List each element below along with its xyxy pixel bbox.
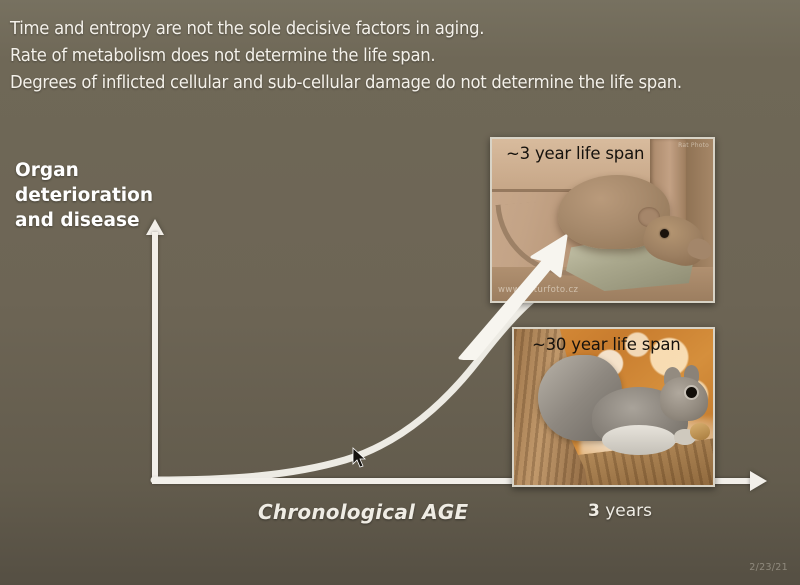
rat-photo-corner-credit: Rat Photo: [678, 142, 709, 149]
squirrel-head: [660, 377, 708, 421]
headline-line-1: Time and entropy are not the sole decisi…: [10, 16, 749, 43]
squirrel-belly: [602, 425, 676, 455]
y-axis-label: Organ deterioration and disease: [15, 158, 165, 233]
headline-line-3: Degrees of inflicted cellular and sub-ce…: [10, 70, 749, 97]
mouse-cursor-icon: [352, 447, 368, 469]
slide-canvas: Time and entropy are not the sole decisi…: [0, 0, 800, 585]
squirrel-nut: [690, 423, 710, 440]
x-axis-label: Chronological AGE: [258, 500, 468, 524]
photo-squirrel: ~30 year life span: [512, 327, 715, 487]
headline-line-2: Rate of metabolism does not determine th…: [10, 43, 749, 70]
x-axis-tick-unit: years: [605, 501, 652, 521]
x-axis-arrowhead-icon: [750, 471, 767, 491]
rat-photo-caption: ~3 year life span: [506, 144, 644, 163]
headline-block: Time and entropy are not the sole decisi…: [10, 16, 796, 97]
date-stamp: 2/23/21: [749, 562, 788, 573]
rat-eye: [660, 229, 669, 238]
squirrel-eye: [686, 387, 697, 398]
x-axis-tick-label: 3 years: [588, 501, 652, 521]
squirrel-photo-caption: ~30 year life span: [532, 335, 681, 354]
x-axis-tick-value: 3: [588, 501, 600, 521]
